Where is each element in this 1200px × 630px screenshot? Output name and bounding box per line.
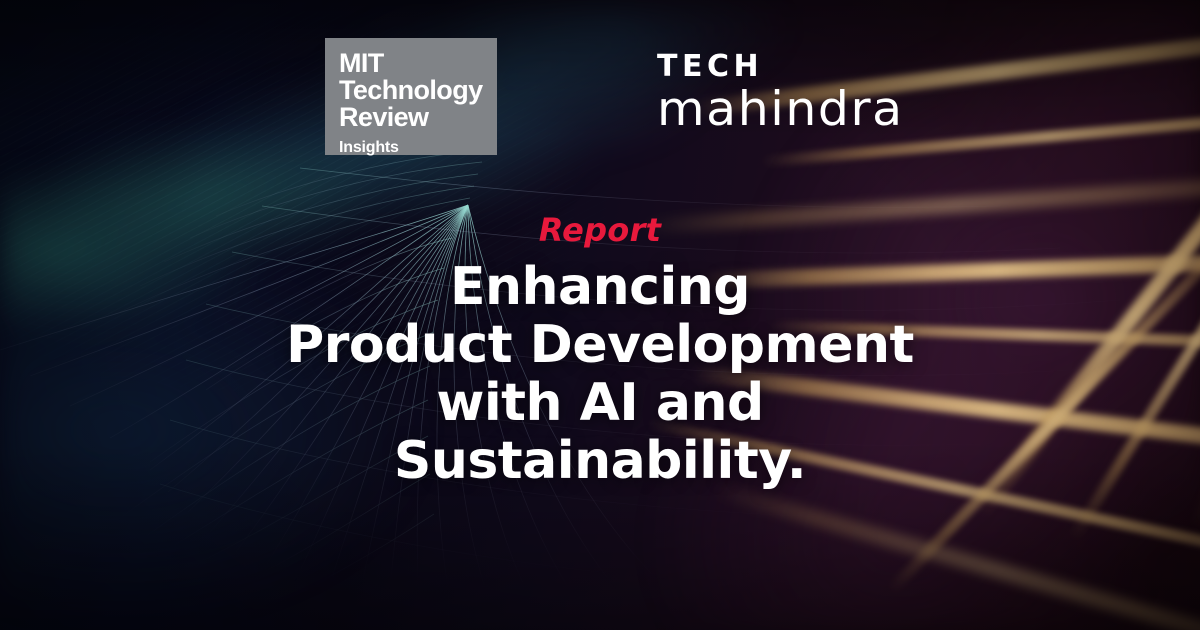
- tech-mahindra-logo: TECH mahindra: [657, 52, 894, 135]
- title-line-2: Product Development: [0, 316, 1200, 374]
- title-line-1: Enhancing: [0, 258, 1200, 316]
- page-title: Enhancing Product Development with AI an…: [0, 258, 1200, 490]
- title-line-3: with AI and: [0, 374, 1200, 432]
- report-cover-card: MIT Technology Review Insights TECH mahi…: [0, 0, 1200, 630]
- mit-technology-review-insights-logo: MIT Technology Review Insights: [325, 38, 497, 155]
- logo-line-tech: TECH: [657, 52, 894, 82]
- title-line-4: Sustainability.: [0, 432, 1200, 490]
- logo-line-review: Review: [339, 104, 497, 131]
- logo-line-mit: MIT: [339, 50, 497, 77]
- report-kicker-label: Report: [0, 212, 1200, 248]
- logo-line-insights: Insights: [339, 140, 497, 156]
- logo-line-mahindra: mahindra: [657, 85, 904, 135]
- logo-line-technology: Technology: [339, 77, 497, 104]
